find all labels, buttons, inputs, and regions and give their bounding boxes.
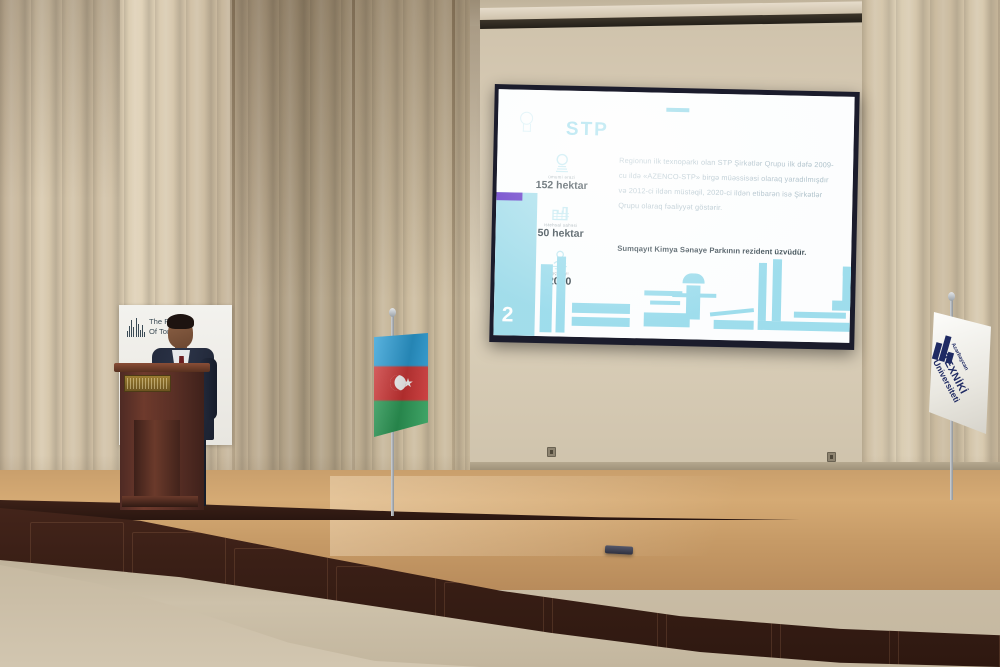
university-crest-icon bbox=[124, 375, 171, 392]
city-skyline-graphic bbox=[531, 254, 851, 339]
screen-surface: STP ümumi ərazi 152 hektar bbox=[493, 89, 854, 343]
curtain-shadow-secondary bbox=[0, 0, 120, 200]
slide-sidebar: 2 bbox=[493, 192, 537, 336]
stat-item: ümumi ərazi 152 hektar bbox=[515, 150, 610, 193]
crest-detail bbox=[127, 378, 168, 389]
speaker-hair bbox=[167, 314, 194, 329]
slide-number: 2 bbox=[502, 303, 515, 327]
projection-screen: STP ümumi ərazi 152 hektar bbox=[489, 84, 860, 350]
flagpole-finial-atu bbox=[948, 292, 955, 301]
title-dash-accent bbox=[666, 108, 689, 113]
slide-note-text: Sumqayıt Kimya Sənaye Parkının rezident … bbox=[617, 244, 832, 258]
azerbaijan-flag bbox=[374, 333, 428, 437]
object-on-stage-floor bbox=[605, 545, 633, 554]
curtain-shadow bbox=[230, 0, 480, 300]
lightbulb-icon bbox=[518, 112, 533, 134]
conference-hall-photo: STP ümumi ərazi 152 hektar bbox=[0, 0, 1000, 667]
sidebar-accent-bar bbox=[496, 192, 522, 201]
wall-outlet-icon bbox=[547, 447, 556, 457]
podium-top-surface bbox=[114, 363, 210, 372]
flag-fold-shading bbox=[374, 333, 428, 437]
location-pin-icon bbox=[515, 150, 609, 175]
podium-base bbox=[122, 496, 198, 507]
slide-title: STP bbox=[566, 119, 609, 142]
stat-value: 152 hektar bbox=[515, 179, 609, 193]
curtain-seam bbox=[452, 0, 455, 520]
podium-column bbox=[134, 420, 180, 506]
wall-outlet-icon bbox=[827, 452, 836, 462]
curtain-seam bbox=[352, 0, 355, 520]
soundwave-logo-icon bbox=[127, 318, 145, 337]
presentation-slide: STP ümumi ərazi 152 hektar bbox=[493, 89, 854, 343]
slide-body-text: Regionun ilk texnoparkı olan STP Şirkətl… bbox=[618, 154, 834, 218]
curtain-seam bbox=[232, 0, 235, 520]
flagpole-finial-az bbox=[389, 308, 396, 317]
